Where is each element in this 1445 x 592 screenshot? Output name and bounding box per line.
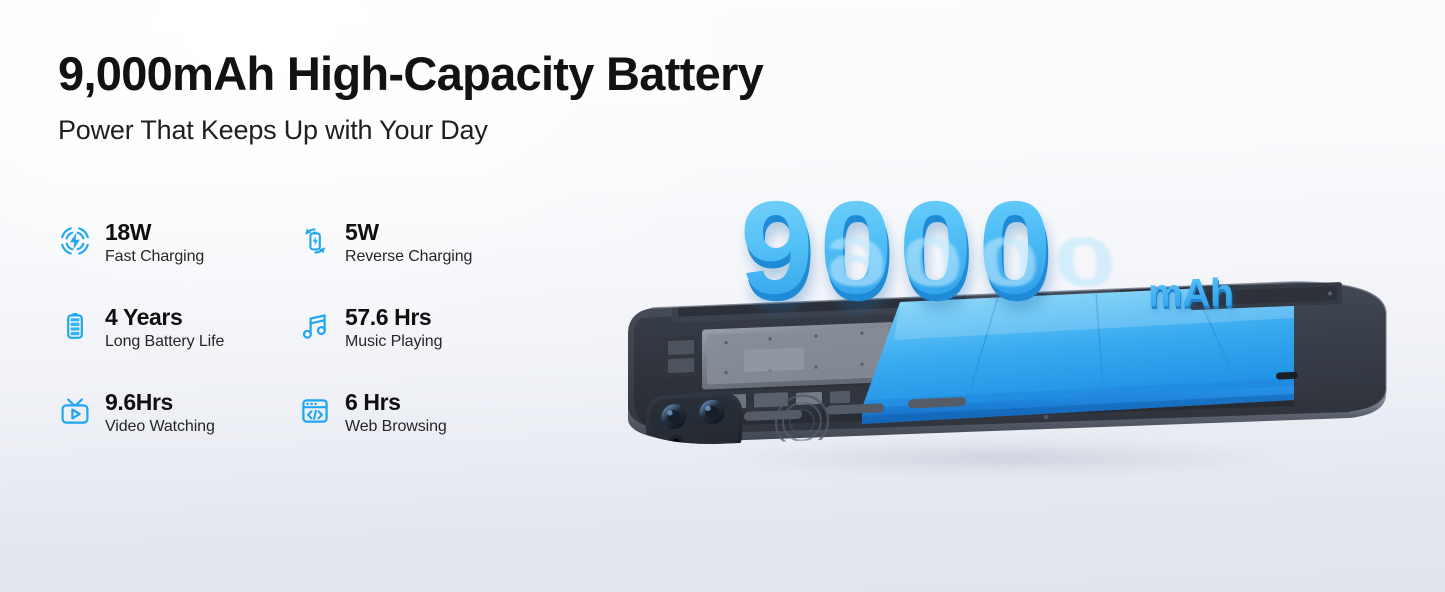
feature-fast-charging: 18W Fast Charging [56,220,296,266]
feature-reverse-charging: 5W Reverse Charging [296,220,546,266]
feature-label: Reverse Charging [345,248,472,266]
feature-value: 4 Years [105,304,182,330]
battery-icon [56,307,94,345]
feature-value: 9.6Hrs [105,389,173,415]
fast-charging-icon [56,222,94,260]
capacity-number: 9000 [740,182,1058,314]
battery-promo-banner: 9,000mAh High-Capacity Battery Power Tha… [0,0,1445,592]
feature-value: 18W [105,219,151,245]
feature-label: Music Playing [345,333,442,351]
feature-text: 18W Fast Charging [105,220,204,266]
feature-battery-life: 4 Years Long Battery Life [56,305,296,351]
feature-text: 5W Reverse Charging [345,220,472,266]
feature-grid: 18W Fast Charging 5W [56,220,546,475]
feature-video-watching: 9.6Hrs Video Watching [56,390,296,436]
music-note-icon [296,307,334,345]
tv-play-icon [56,392,94,430]
feature-web-browsing: 6 Hrs Web Browsing [296,390,546,436]
capacity-unit: mAh [1148,272,1233,316]
feature-value: 57.6 Hrs [345,304,431,330]
feature-music-playing: 57.6 Hrs Music Playing [296,305,546,351]
feature-text: 57.6 Hrs Music Playing [345,305,442,351]
reverse-charging-icon [296,222,334,260]
browser-code-icon [296,392,334,430]
feature-text: 9.6Hrs Video Watching [105,390,215,436]
feature-value: 5W [345,219,379,245]
feature-text: 4 Years Long Battery Life [105,305,224,351]
product-visual: 9000 mAh 9000 [580,120,1445,540]
feature-text: 6 Hrs Web Browsing [345,390,447,436]
feature-label: Video Watching [105,418,215,436]
feature-label: Web Browsing [345,418,447,436]
page-title: 9,000mAh High-Capacity Battery [58,48,918,101]
feature-label: Fast Charging [105,248,204,266]
feature-value: 6 Hrs [345,389,401,415]
feature-label: Long Battery Life [105,333,224,351]
